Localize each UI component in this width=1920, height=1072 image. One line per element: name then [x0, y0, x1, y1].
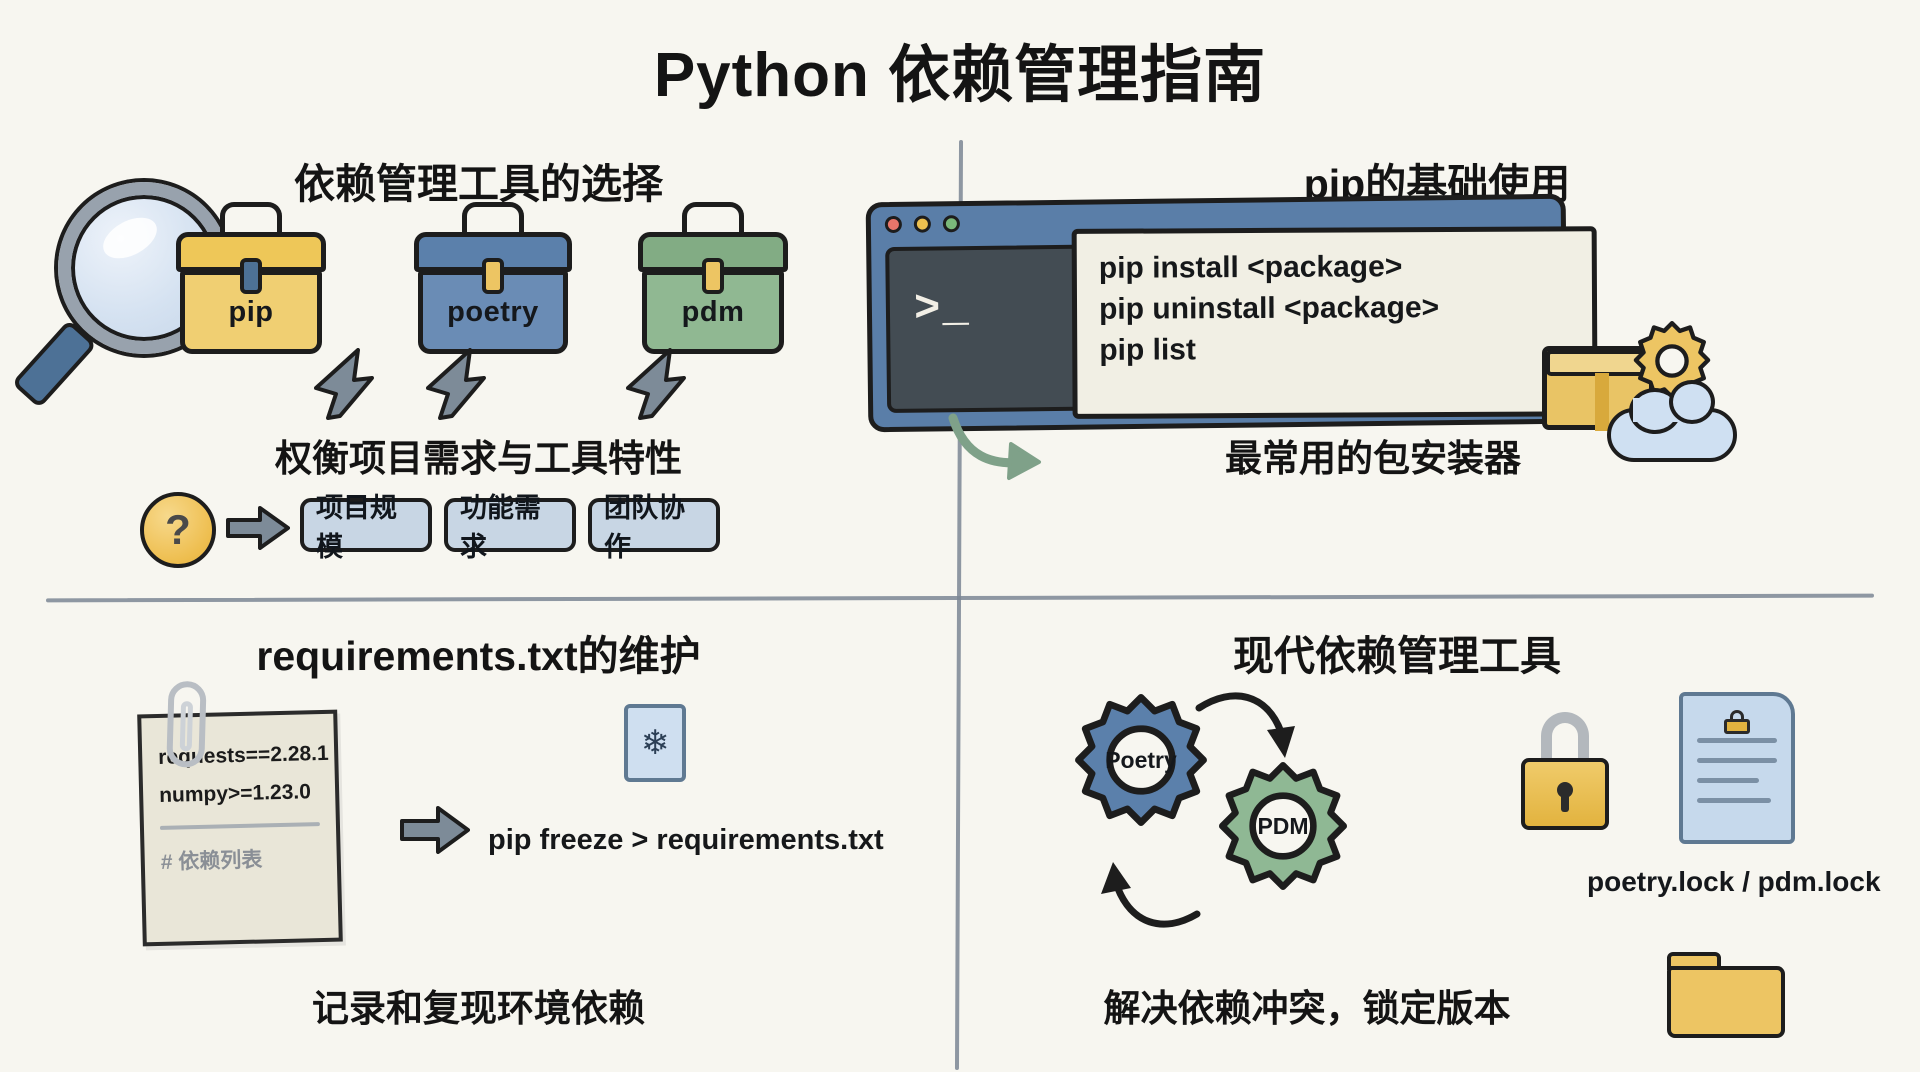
arrow-right-icon [400, 806, 470, 854]
curved-arrow-icon [1093, 858, 1203, 936]
padlock-icon [1519, 712, 1611, 832]
paperclip-icon [166, 681, 206, 768]
toolbox-pip[interactable]: pip [176, 202, 326, 357]
gear-pdm[interactable]: PDM [1217, 760, 1349, 892]
command-line: pip list [1099, 328, 1570, 372]
quadrant-requirements-caption: 记录和复现环境依赖 [0, 978, 957, 1032]
toolbox-label: pip [229, 296, 274, 329]
toolbox-label: poetry [447, 296, 539, 329]
requirements-note[interactable]: requests==2.28.1 numpy>=1.23.0 # 依赖列表 [137, 710, 343, 947]
command-line: pip uninstall <package> [1099, 286, 1570, 330]
command-line: pip install <package> [1099, 245, 1570, 289]
arrow-right-icon [226, 506, 290, 550]
infographic-canvas: Python 依赖管理指南 依赖管理工具的选择 pip poetry [0, 0, 1920, 1072]
toolbox-latch [702, 258, 724, 294]
tag-label: 项目规模 [316, 486, 416, 564]
minimize-dot-icon[interactable] [914, 215, 931, 232]
quadrant-requirements-heading: requirements.txt的维护 [0, 622, 957, 682]
tag-team-collab[interactable]: 团队协作 [588, 498, 720, 552]
terminal-screen: >_ pip install <package> pip uninstall <… [885, 239, 1549, 413]
tag-feature-needs[interactable]: 功能需求 [444, 498, 576, 552]
quadrant-requirements: requirements.txt的维护 requests==2.28.1 num… [0, 596, 957, 1072]
page-title: Python 依赖管理指南 [0, 24, 1920, 114]
gear-label: Poetry [1073, 692, 1209, 828]
curved-arrow-icon [1195, 688, 1305, 766]
lock-icon [1724, 710, 1750, 734]
arrow-up-icon [618, 348, 688, 420]
arrow-up-icon [418, 348, 488, 420]
quadrant-modern-tools-heading: 现代依赖管理工具 [1017, 622, 1777, 682]
gear-label: PDM [1217, 760, 1349, 892]
toolbox-handle [682, 202, 744, 236]
pip-freeze-command: pip freeze > requirements.txt [488, 824, 884, 857]
toolbox-label: pdm [682, 296, 745, 329]
quadrant-modern-tools: 现代依赖管理工具 Poetry PDM [957, 596, 1920, 1072]
snowflake-icon: ❄ [624, 704, 686, 782]
curved-arrow-icon [947, 412, 1057, 482]
snowflake-glyph: ❄ [641, 723, 670, 763]
terminal-prompt: >_ [914, 284, 971, 335]
toolbox-latch [240, 258, 262, 294]
tag-label: 功能需求 [460, 486, 560, 564]
requirement-line: numpy>=1.23.0 [159, 780, 324, 808]
window-controls [885, 215, 960, 233]
toolbox-handle [462, 202, 524, 236]
quadrant-tool-selection-caption: 权衡项目需求与工具特性 [0, 428, 957, 482]
quadrant-pip-basics: pip的基础使用 >_ pip install <package> pip un… [957, 140, 1920, 596]
toolbox-pdm[interactable]: pdm [638, 202, 788, 357]
quadrant-pip-basics-caption: 最常用的包安装器 [1053, 428, 1693, 482]
toolbox-latch [482, 258, 504, 294]
quadrant-modern-tools-caption: 解决依赖冲突，锁定版本 [957, 978, 1657, 1032]
maximize-dot-icon[interactable] [943, 215, 960, 232]
terminal-window[interactable]: >_ pip install <package> pip uninstall <… [866, 194, 1569, 433]
quadrant-tool-selection: 依赖管理工具的选择 pip poetry [0, 140, 957, 596]
note-separator [160, 822, 320, 830]
lockfile-names: poetry.lock / pdm.lock [1587, 866, 1881, 898]
arrow-up-icon [306, 348, 376, 420]
toolbox-poetry[interactable]: poetry [414, 202, 572, 357]
question-mark-icon: ? [140, 492, 216, 568]
close-dot-icon[interactable] [885, 216, 902, 233]
command-panel: pip install <package> pip uninstall <pac… [1072, 226, 1598, 419]
folder-icon [1667, 952, 1785, 1038]
tag-project-scale[interactable]: 项目规模 [300, 498, 432, 552]
lockfile-document-icon [1679, 692, 1795, 844]
tag-label: 团队协作 [604, 486, 704, 564]
gear-poetry[interactable]: Poetry [1073, 692, 1209, 828]
toolbox-handle [220, 202, 282, 236]
requirement-comment: # 依赖列表 [160, 842, 325, 876]
